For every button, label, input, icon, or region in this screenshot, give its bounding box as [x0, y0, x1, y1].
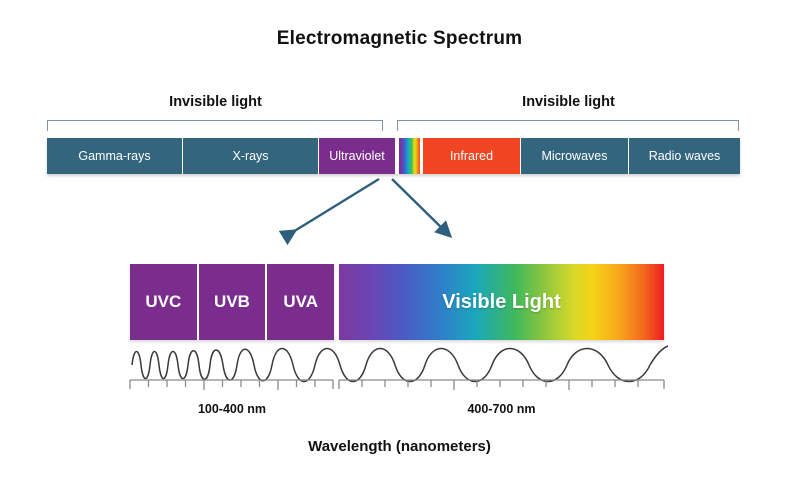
uv-band-uvb[interactable]: UVB: [199, 264, 268, 340]
segment-gamma-rays[interactable]: Gamma-rays: [47, 138, 183, 174]
arrow-to-uv-detail: [288, 179, 379, 235]
segment-visible-rainbow[interactable]: [399, 138, 420, 174]
spectrum-bar: Gamma-rays X-rays Ultraviolet Infrared M…: [47, 138, 740, 174]
ruler-uv-ticks: [130, 380, 333, 390]
segment-label: X-rays: [232, 150, 268, 163]
visible-light-label: Visible Light: [442, 291, 561, 314]
invisible-light-label-right: Invisible light: [397, 94, 740, 110]
uv-band-uvc[interactable]: UVC: [130, 264, 199, 340]
ruler-visible-ticks: [339, 380, 664, 390]
uv-band-label: UVB: [214, 292, 250, 312]
segment-ultraviolet[interactable]: Ultraviolet: [319, 138, 396, 174]
segment-x-rays[interactable]: X-rays: [183, 138, 319, 174]
range-label-uv: 100-400 nm: [130, 402, 334, 416]
segment-label: Microwaves: [542, 150, 608, 163]
visible-light-band[interactable]: Visible Light: [339, 264, 664, 340]
bracket-right: [397, 120, 739, 131]
segment-microwaves[interactable]: Microwaves: [521, 138, 629, 174]
segment-label: Infrared: [450, 150, 493, 163]
segment-radio-waves[interactable]: Radio waves: [629, 138, 740, 174]
bracket-left: [47, 120, 383, 131]
wavelength-rulers: [128, 378, 673, 400]
range-label-visible: 400-700 nm: [339, 402, 664, 416]
page-title: Electromagnetic Spectrum: [0, 28, 799, 50]
segment-infrared[interactable]: Infrared: [423, 138, 521, 174]
callout-arrows: [0, 170, 799, 262]
uv-band-uva[interactable]: UVA: [267, 264, 334, 340]
electromagnetic-spectrum-figure: { "title": "Electromagnetic Spectrum", "…: [0, 0, 799, 498]
uv-band-group: UVC UVB UVA: [130, 264, 334, 340]
segment-label: Radio waves: [649, 150, 721, 163]
uv-band-label: UVC: [145, 292, 181, 312]
waveform-path: [132, 346, 668, 382]
segment-label: Gamma-rays: [78, 150, 150, 163]
uv-band-label: UVA: [283, 292, 318, 312]
segment-label: Ultraviolet: [329, 150, 385, 163]
invisible-light-label-left: Invisible light: [47, 94, 384, 110]
axis-title: Wavelength (nanometers): [0, 438, 799, 455]
arrow-to-visible-detail: [392, 179, 448, 234]
